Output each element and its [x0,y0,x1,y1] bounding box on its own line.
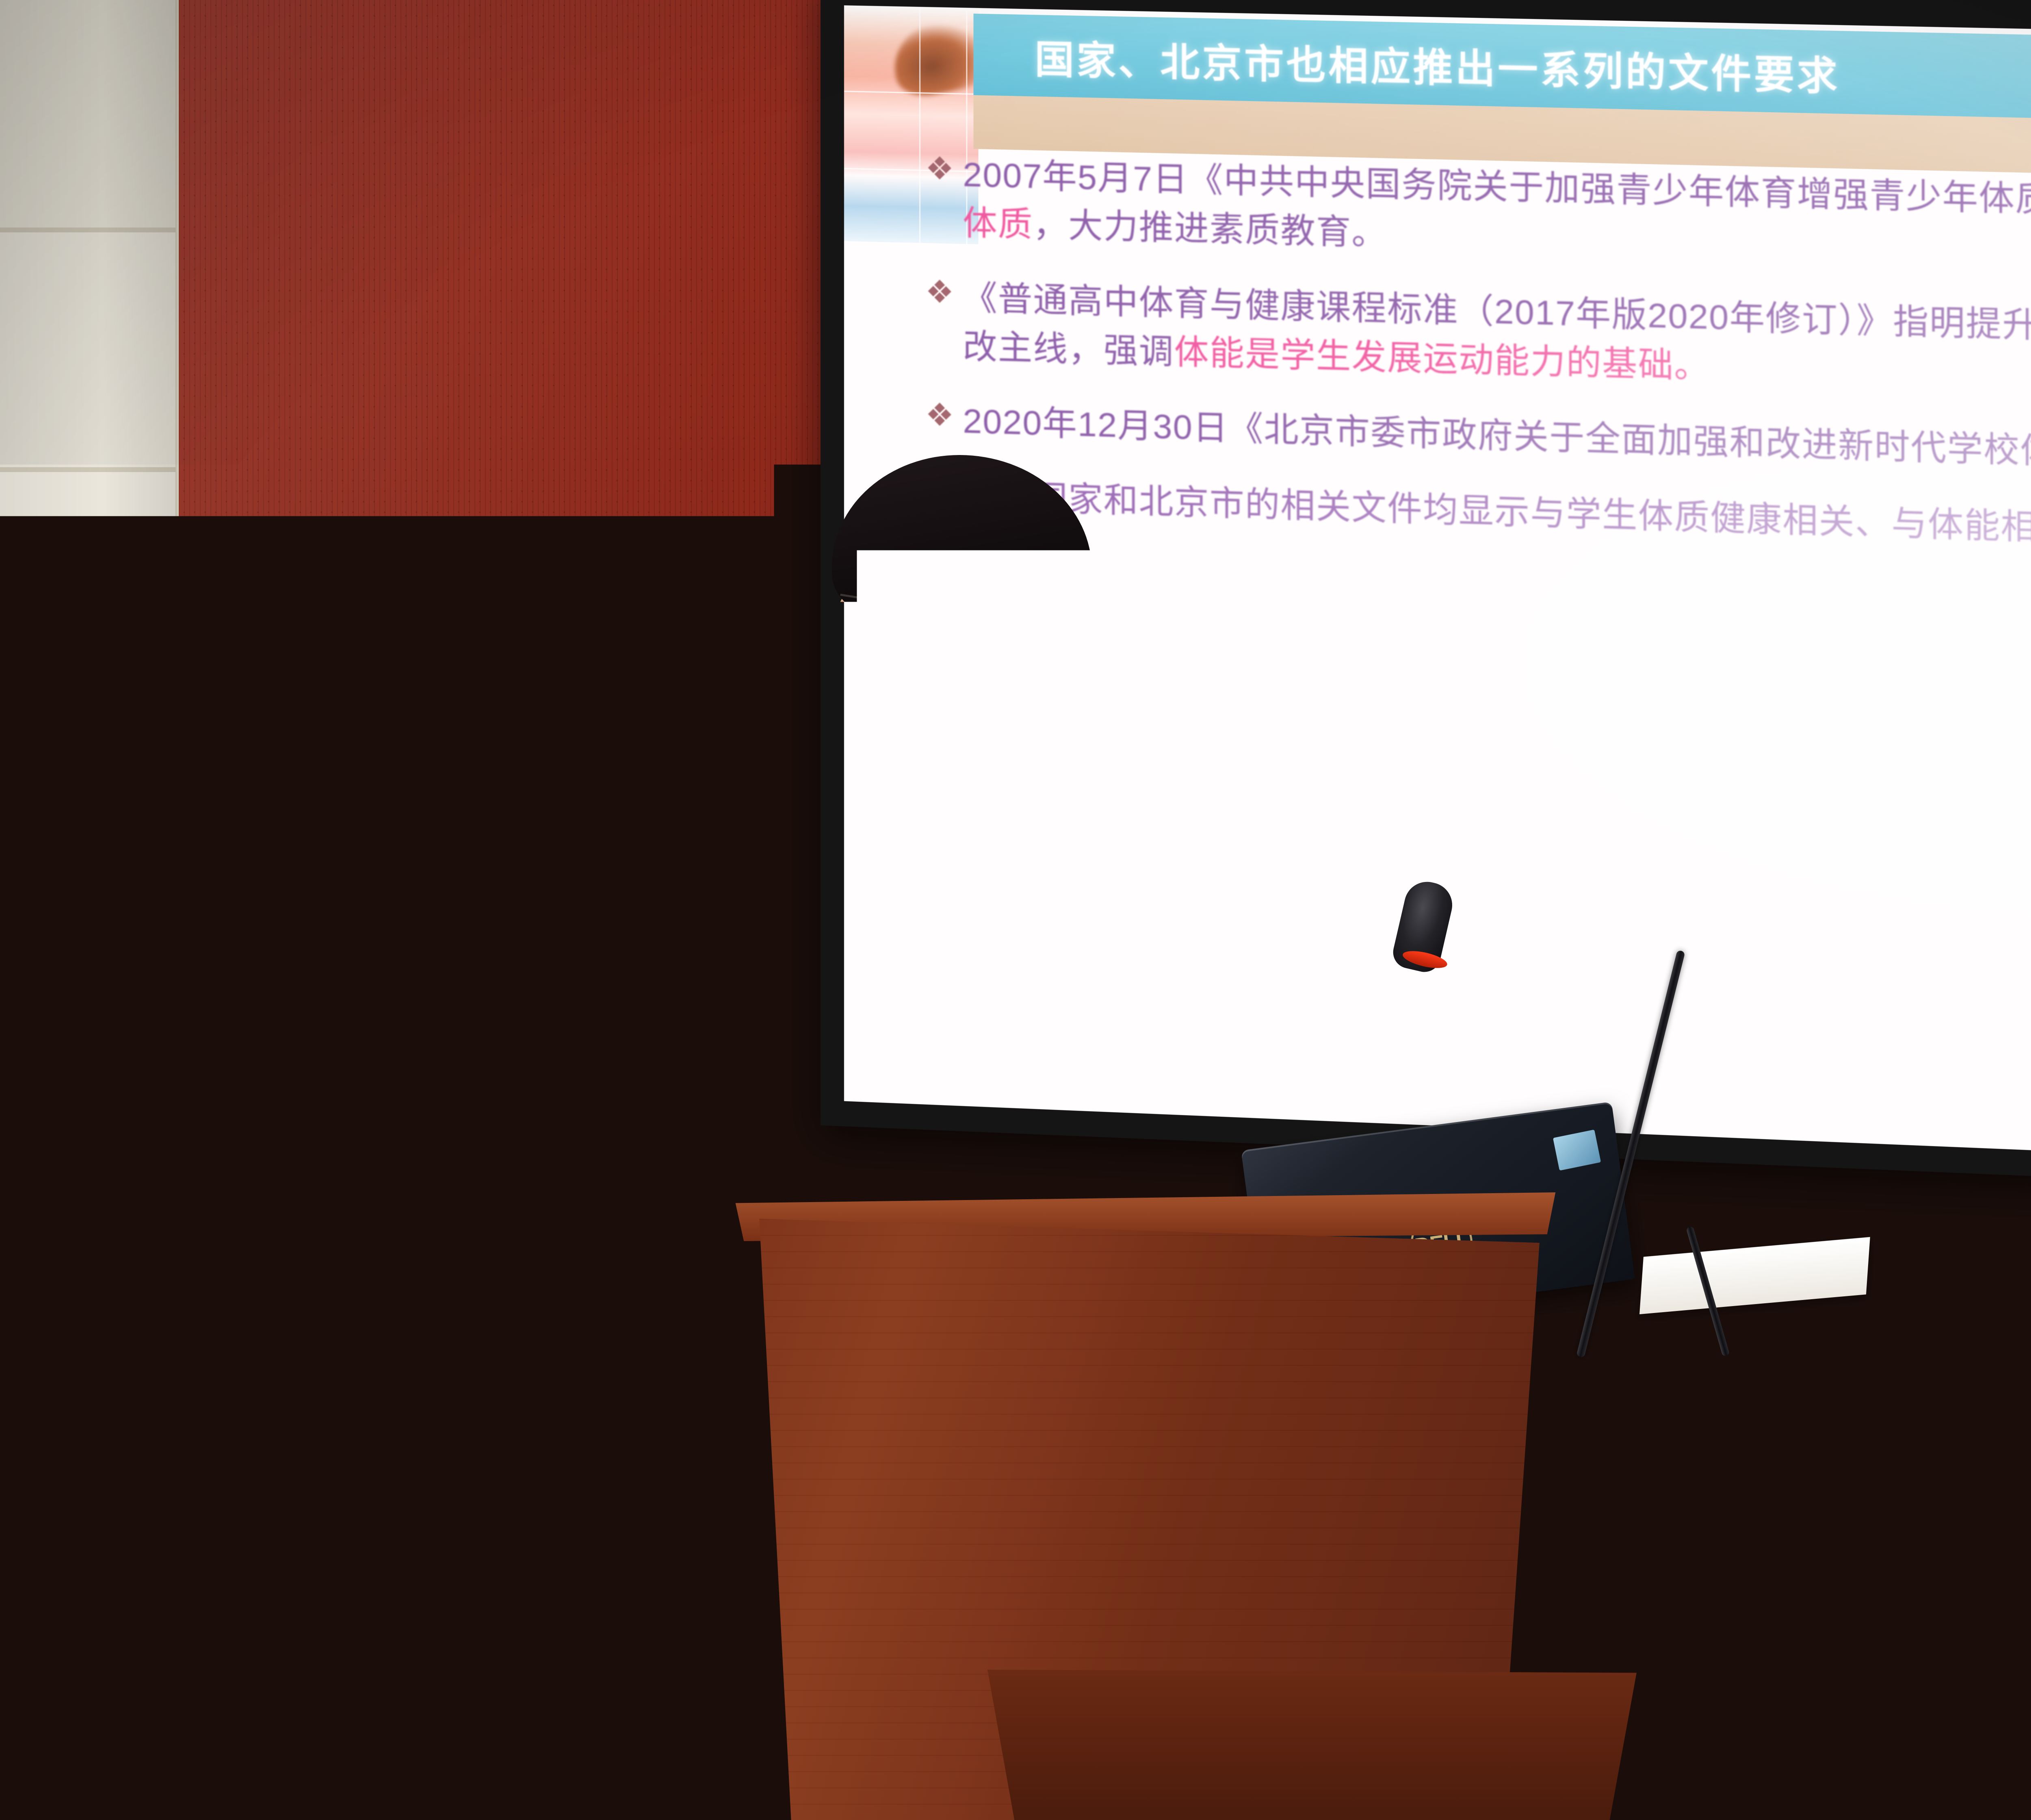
bullet-2-highlight: 体能是学生发展运动能力的基础。 [1174,332,1711,385]
slide-bullet-1: ❖ 2007年5月7日《中共中央国务院关于加强青少年体育增强青少年体质的意见》明… [925,149,2031,292]
eyeglass-lens [978,591,1054,633]
bullet-1-post: ，大力推进素质教育。 [1033,206,1387,253]
photo-grid-line [919,7,920,243]
lecture-hall-scene: 国家、北京市也相应推出一系列的文件要求 ❖ 2007年5月7日《中共中央国务院关… [0,0,2031,1820]
speaker-chin-shadow [951,711,1060,756]
shirt-red-band [873,947,995,987]
slide-bullet-2-text: 《普通高中体育与健康课程标准（2017年版2020年修订）》指明提升运动能力、形… [963,273,2031,420]
podium-base [967,1670,1657,1820]
eyeglasses-icon [869,581,1072,642]
left-cream-wall-panels [0,0,187,1609]
diamond-bullet-icon: ❖ [925,149,963,188]
slide-title-text: 国家、北京市也相应推出一系列的文件要求 [1035,27,1840,101]
diamond-bullet-icon: ❖ [925,396,963,434]
slide-bullet-1-text: 2007年5月7日《中共中央国务院关于加强青少年体育增强青少年体质的意见》明确了… [963,150,2031,292]
eyeglass-lens [884,591,960,633]
photo-subject-blur [887,15,979,101]
jacket-slogan-text: HARDER TO BE CHAMPION WILL WORK HARDER [1100,1007,1223,1079]
slide-bullet-2: ❖ 《普通高中体育与健康课程标准（2017年版2020年修订）》指明提升运动能力… [925,273,2031,420]
eyeglass-bridge [960,604,978,607]
diamond-bullet-icon: ❖ [925,273,963,311]
